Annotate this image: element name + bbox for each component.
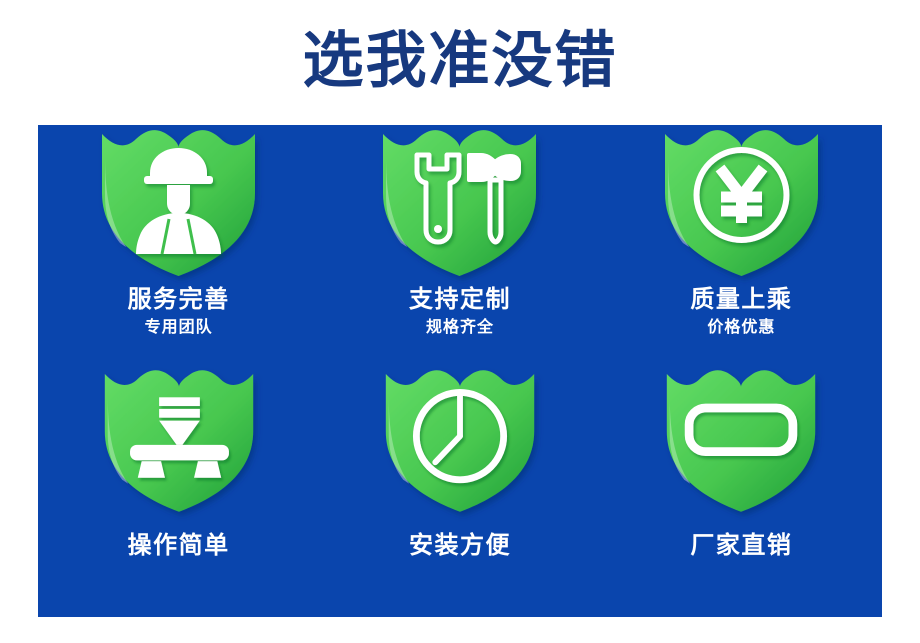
feature-subtitle: 专用团队 xyxy=(145,319,213,337)
feature-card-customization[interactable]: 支持定制 规格齐全 xyxy=(319,125,600,357)
feature-card-quality[interactable]: 质量上乘 价格优惠 xyxy=(601,125,882,357)
shield-badge xyxy=(380,365,540,513)
shield-badge xyxy=(661,365,821,513)
shield-badge xyxy=(659,125,824,277)
shield-badge xyxy=(377,125,542,277)
feature-title: 质量上乘 xyxy=(690,287,792,313)
feature-card-operation[interactable]: 操作简单 xyxy=(38,357,319,617)
page-title: 选我准没错 xyxy=(0,26,920,94)
feature-grid: 服务完善 专用团队 xyxy=(38,125,882,617)
feature-title: 操作简单 xyxy=(128,533,230,559)
feature-card-installation[interactable]: 安装方便 xyxy=(319,357,600,617)
feature-title: 厂家直销 xyxy=(690,533,792,559)
feature-subtitle: 规格齐全 xyxy=(426,319,494,337)
shield-shape xyxy=(383,130,536,276)
feature-title: 支持定制 xyxy=(409,287,511,313)
feature-title: 服务完善 xyxy=(128,287,230,313)
feature-title: 安装方便 xyxy=(409,533,511,559)
shield-badge xyxy=(96,125,261,277)
feature-card-factory-direct[interactable]: 厂家直销 xyxy=(601,357,882,617)
feature-subtitle: 价格优惠 xyxy=(707,319,775,337)
shield-badge xyxy=(99,365,259,513)
feature-card-service[interactable]: 服务完善 专用团队 xyxy=(38,125,319,357)
feature-panel: 服务完善 专用团队 xyxy=(38,125,882,617)
